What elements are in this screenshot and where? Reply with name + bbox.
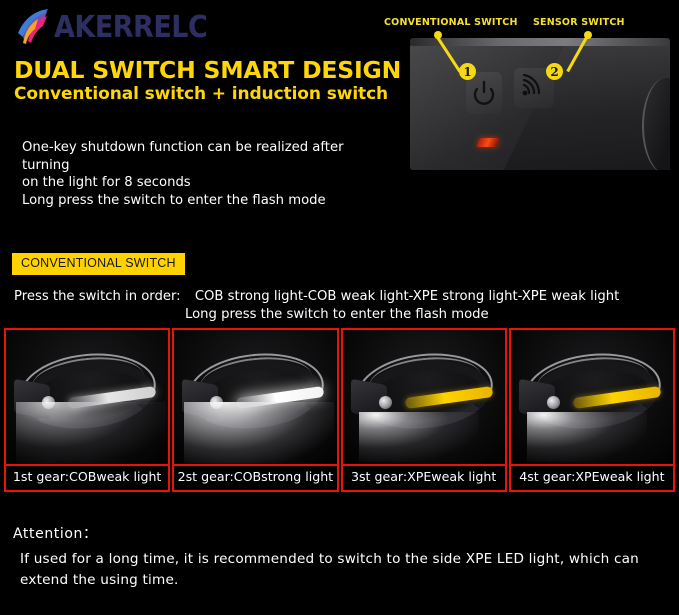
led-indicator [476,138,500,147]
switch-callout-diagram: CONVENTIONAL SWITCH SENSOR SWITCH 1 2 [370,8,679,170]
page-headline: DUAL SWITCH SMART DESIGN [14,56,401,84]
section-badge-conventional-switch: CONVENTIONAL SWITCH [12,253,185,275]
callout-label-sensor: SENSOR SWITCH [533,17,625,28]
feature-description: One-key shutdown function can be realize… [22,139,392,209]
headlamp-photo-1 [6,330,168,464]
gallery-item: 4st gear:XPEweak light [509,328,675,492]
power-button-icon [472,80,496,106]
headlamp-photo-2 [174,330,336,464]
callout-label-conventional: CONVENTIONAL SWITCH [384,17,518,28]
light-beam [184,402,334,464]
side-led-knob [547,396,560,409]
gallery-item: 2st gear:COBstrong light [172,328,338,492]
side-led-knob [379,396,392,409]
headlamp-photo-3 [343,330,505,464]
sensor-wave-icon [520,74,548,98]
press-order-row: Press the switch in order: COB strong li… [14,288,674,306]
light-beam [16,402,166,464]
description-line-2: on the light for 8 seconds [22,174,392,192]
callout-number-1: 1 [459,63,476,80]
description-line-3: Long press the switch to enter the flash… [22,192,392,210]
gear-gallery: 1st gear:COBweak light 2st gear:COBstron… [4,328,675,492]
gallery-item: 3st gear:XPEweak light [341,328,507,492]
callout-number-2: 2 [546,63,563,80]
attention-title: Attention： [13,523,98,543]
press-order-value: COB strong light-COB weak light-XPE stro… [195,289,620,304]
attention-body: If used for a long time, it is recommend… [20,549,670,591]
product-infographic: AKERRELC DUAL SWITCH SMART DESIGN Conven… [0,0,679,615]
brand-name: AKERRELC [54,12,207,42]
gallery-caption: 3st gear:XPEweak light [343,464,505,490]
lamp-top-edge [410,38,670,46]
description-line-1: One-key shutdown function can be realize… [22,139,392,174]
gallery-caption: 2st gear:COBstrong light [174,464,336,490]
light-beam [359,412,479,462]
gallery-caption: 1st gear:COBweak light [6,464,168,490]
gallery-item: 1st gear:COBweak light [4,328,170,492]
press-order-label: Press the switch in order: [14,288,181,306]
light-beam [527,412,647,462]
gallery-caption: 4st gear:XPEweak light [511,464,673,490]
page-subheadline: Conventional switch + induction switch [14,84,388,104]
headlamp-photo-4 [511,330,673,464]
press-order-note: Long press the switch to enter the flash… [185,306,489,324]
brand-logo: AKERRELC [14,6,207,48]
